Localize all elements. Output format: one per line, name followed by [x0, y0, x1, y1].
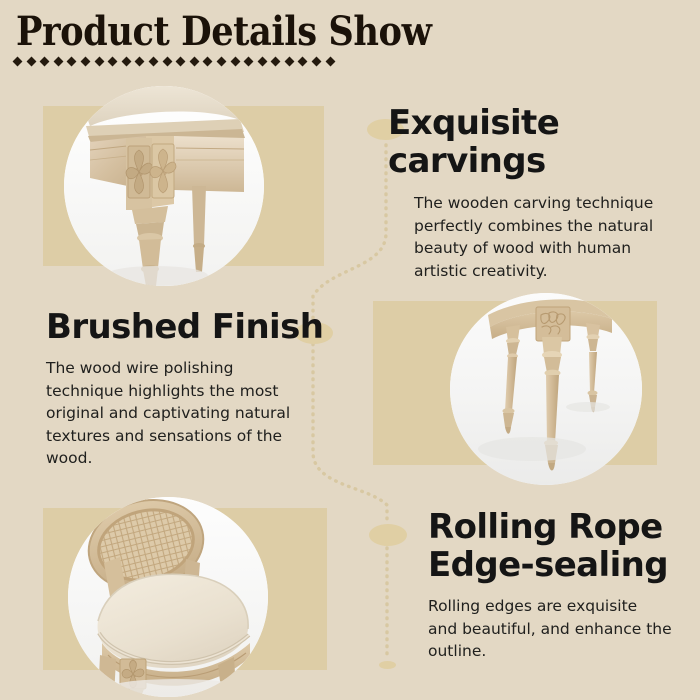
section-brushed: Brushed Finish The wood wire polishing t…: [46, 308, 346, 470]
diamond-dot-icon: [148, 56, 158, 66]
diamond-dot-icon: [26, 56, 36, 66]
diamond-dot-icon: [312, 56, 322, 66]
section-body-brushed: The wood wire polishing technique highli…: [46, 357, 306, 470]
diamond-dot-icon: [40, 56, 50, 66]
diamond-dot-icon: [271, 56, 281, 66]
infographic-page: Product Details Show: [0, 0, 700, 700]
diamond-dot-icon: [230, 56, 240, 66]
section-heading-brushed: Brushed Finish: [46, 308, 346, 346]
bullet-oval-rolling: [369, 524, 407, 546]
diamond-dot-icon: [94, 56, 104, 66]
diamond-dot-icon: [244, 56, 254, 66]
turned-wooden-legs-photo: [450, 293, 642, 485]
section-rolling: Rolling Rope Edge-sealing Rolling edges …: [428, 508, 698, 663]
diamond-dot-icon: [203, 56, 213, 66]
section-body-rolling: Rolling edges are exquisite and beautifu…: [428, 595, 678, 663]
diamond-dot-icon: [53, 56, 63, 66]
title-divider: [14, 55, 340, 67]
diamond-dot-icon: [162, 56, 172, 66]
diamond-dot-icon: [189, 56, 199, 66]
page-title: Product Details Show: [16, 10, 431, 54]
section-carvings: Exquisite carvings The wooden carving te…: [388, 104, 694, 282]
diamond-dot-icon: [298, 56, 308, 66]
diamond-dot-icon: [135, 56, 145, 66]
upholstered-chair-seat-photo: [68, 497, 268, 697]
diamond-dot-icon: [216, 56, 226, 66]
diamond-dot-icon: [67, 56, 77, 66]
section-heading-carvings: Exquisite carvings: [388, 104, 694, 180]
diamond-dot-icon: [176, 56, 186, 66]
diamond-dot-icon: [108, 56, 118, 66]
diamond-dot-icon: [325, 56, 335, 66]
diamond-dot-icon: [13, 56, 23, 66]
diamond-dot-icon: [121, 56, 131, 66]
diamond-dot-icon: [81, 56, 91, 66]
carved-table-corner-photo: [64, 86, 264, 286]
section-heading-rolling: Rolling Rope Edge-sealing: [428, 508, 698, 584]
section-body-carvings: The wooden carving technique perfectly c…: [414, 192, 664, 282]
connector-tail-cap: [379, 661, 396, 669]
diamond-dot-icon: [257, 56, 267, 66]
diamond-dot-icon: [284, 56, 294, 66]
